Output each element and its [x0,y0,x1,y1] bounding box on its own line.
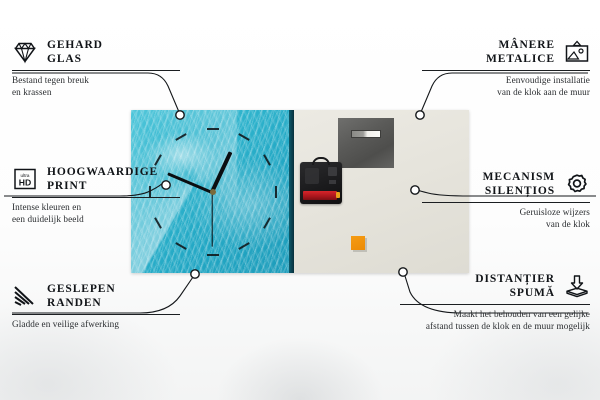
feature-gehard-glas-subtitle: Bestand tegen breuk en krassen [12,75,180,98]
clock-second-hand [211,192,212,247]
feature-geslepen-randen-rule [12,314,180,315]
movement-switch [329,180,336,184]
clock-tick [207,128,219,130]
metal-hanger-plate [338,118,394,168]
feature-distantier-spuma-rule [400,304,590,305]
clock-movement-mechanism [300,162,342,204]
clock-center-hub [210,189,216,195]
clock-tick [207,254,219,256]
feature-distantier-spuma-subtitle: Maakt het behouden van een gelijke afsta… [400,309,590,332]
feature-mecanism-silentios: MECANISM SILENȚIOS Geruisloze wijzers va… [422,170,590,230]
diamond-icon [12,40,38,64]
feature-distantier-spuma: DISTANȚIER SPUMĂ Maakt het behouden van … [400,272,590,332]
feature-geslepen-randen-head: GESLEPEN RANDEN [12,282,180,310]
feature-hoogwaardige-print-rule [12,197,180,198]
gear-icon [564,172,590,196]
svg-text:HD: HD [19,178,31,188]
feature-hoogwaardige-print-head: ultra HD HOOGWAARDIGE PRINT [12,165,180,193]
feature-manere-metalice-rule [422,70,590,71]
feature-mecanism-silentios-head: MECANISM SILENȚIOS [422,170,590,198]
feature-mecanism-silentios-rule [422,202,590,203]
feature-geslepen-randen: GESLEPEN RANDEN Gladde en veilige afwerk… [12,282,180,331]
feature-geslepen-randen-subtitle: Gladde en veilige afwerking [12,319,180,331]
feature-gehard-glas: GEHARD GLAS Bestand tegen breuk en krass… [12,38,180,98]
feature-mecanism-silentios-subtitle: Geruisloze wijzers van de klok [422,207,590,230]
feature-geslepen-randen-title: GESLEPEN RANDEN [47,282,116,310]
picture-hanger-icon [564,40,590,64]
feature-gehard-glas-head: GEHARD GLAS [12,38,180,66]
feature-mecanism-silentios-title: MECANISM SILENȚIOS [483,170,555,198]
feature-manere-metalice-head: MÂNERE METALICE [422,38,590,66]
feature-hoogwaardige-print: ultra HD HOOGWAARDIGE PRINT Intense kleu… [12,165,180,225]
feature-gehard-glas-rule [12,70,180,71]
feature-manere-metalice-subtitle: Eenvoudige installatie van de klok aan d… [422,75,590,98]
aa-battery [303,191,337,200]
product-infographic: GEHARD GLAS Bestand tegen breuk en krass… [0,0,600,400]
ultra-hd-icon: ultra HD [12,167,38,191]
feature-gehard-glas-title: GEHARD GLAS [47,38,103,66]
hanger-keyhole-slot [351,130,381,138]
feature-hoogwaardige-print-title: HOOGWAARDIGE PRINT [47,165,158,193]
feature-hoogwaardige-print-subtitle: Intense kleuren en een duidelijk beeld [12,202,180,225]
product-image [131,110,469,273]
movement-hanging-loop [312,157,330,165]
clock-tick [275,186,277,198]
feature-distantier-spuma-title: DISTANȚIER SPUMĂ [475,272,555,300]
feature-manere-metalice-title: MÂNERE METALICE [486,38,555,66]
foam-spacer-pad [351,236,365,250]
clock-glass-edge [289,110,294,273]
movement-housing-detail [305,168,319,184]
movement-knob [328,167,337,176]
feature-distantier-spuma-head: DISTANȚIER SPUMĂ [400,272,590,300]
beveled-edges-icon [12,284,38,308]
foam-spacer-icon [564,274,590,298]
feature-manere-metalice: MÂNERE METALICE Eenvoudige installatie v… [422,38,590,98]
